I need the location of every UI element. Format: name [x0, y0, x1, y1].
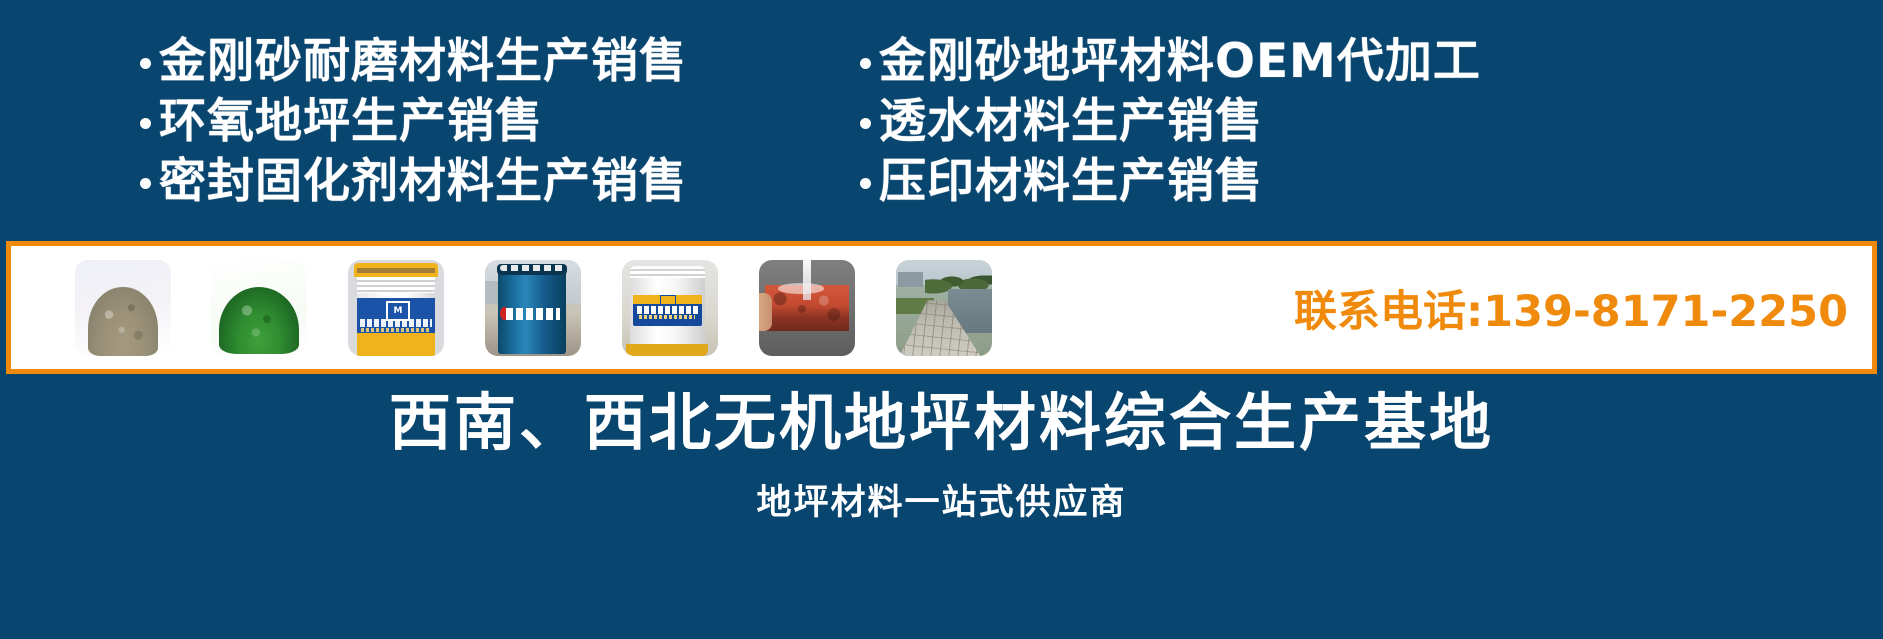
service-label: 密封固化剂材料生产销售	[159, 154, 687, 210]
service-item: 压印材料生产销售	[860, 154, 1481, 210]
bullet-dot-icon	[140, 178, 151, 189]
product-thumb-epoxy-pail[interactable]	[622, 260, 718, 356]
footer-headline: 西南、西北无机地坪材料综合生产基地	[0, 380, 1883, 466]
service-item: 环氧地坪生产销售	[140, 94, 687, 150]
product-thumb-sealer-pail[interactable]: M	[348, 260, 444, 356]
product-thumb-abrasive-powder[interactable]	[75, 260, 171, 356]
promo-banner: 金刚砂耐磨材料生产销售 环氧地坪生产销售 密封固化剂材料生产销售 金刚砂地坪材料…	[0, 0, 1883, 639]
services-left-column: 金刚砂耐磨材料生产销售 环氧地坪生产销售 密封固化剂材料生产销售	[140, 34, 687, 214]
brand-logo-m	[660, 295, 676, 305]
service-label: 环氧地坪生产销售	[159, 94, 543, 150]
service-label: 金刚砂耐磨材料生产销售	[159, 34, 687, 90]
services-right-column: 金刚砂地坪材料OEM代加工 透水材料生产销售 压印材料生产销售	[860, 34, 1481, 214]
product-thumb-permeable-concrete[interactable]	[759, 260, 855, 356]
service-label: 金刚砂地坪材料OEM代加工	[879, 34, 1481, 90]
product-thumb-stamped-pavement[interactable]	[896, 260, 992, 356]
product-strip-inner: M	[11, 246, 1872, 369]
bullet-dot-icon	[140, 118, 151, 129]
service-item: 密封固化剂材料生产销售	[140, 154, 687, 210]
service-item: 金刚砂地坪材料OEM代加工	[860, 34, 1481, 90]
bullet-dot-icon	[860, 178, 871, 189]
footer-subtitle: 地坪材料一站式供应商	[0, 478, 1883, 528]
service-label: 透水材料生产销售	[879, 94, 1263, 150]
product-thumb-green-aggregate[interactable]	[211, 260, 307, 356]
product-thumb-hongma-drum[interactable]	[485, 260, 581, 356]
service-item: 金刚砂耐磨材料生产销售	[140, 34, 687, 90]
bullet-dot-icon	[140, 58, 151, 69]
service-item: 透水材料生产销售	[860, 94, 1481, 150]
service-label: 压印材料生产销售	[879, 154, 1263, 210]
contact-phone[interactable]: 联系电话:139-8171-2250	[1294, 277, 1848, 339]
bullet-dot-icon	[860, 118, 871, 129]
product-strip: M	[6, 241, 1877, 374]
services-section: 金刚砂耐磨材料生产销售 环氧地坪生产销售 密封固化剂材料生产销售 金刚砂地坪材料…	[0, 0, 1883, 236]
bullet-dot-icon	[860, 58, 871, 69]
